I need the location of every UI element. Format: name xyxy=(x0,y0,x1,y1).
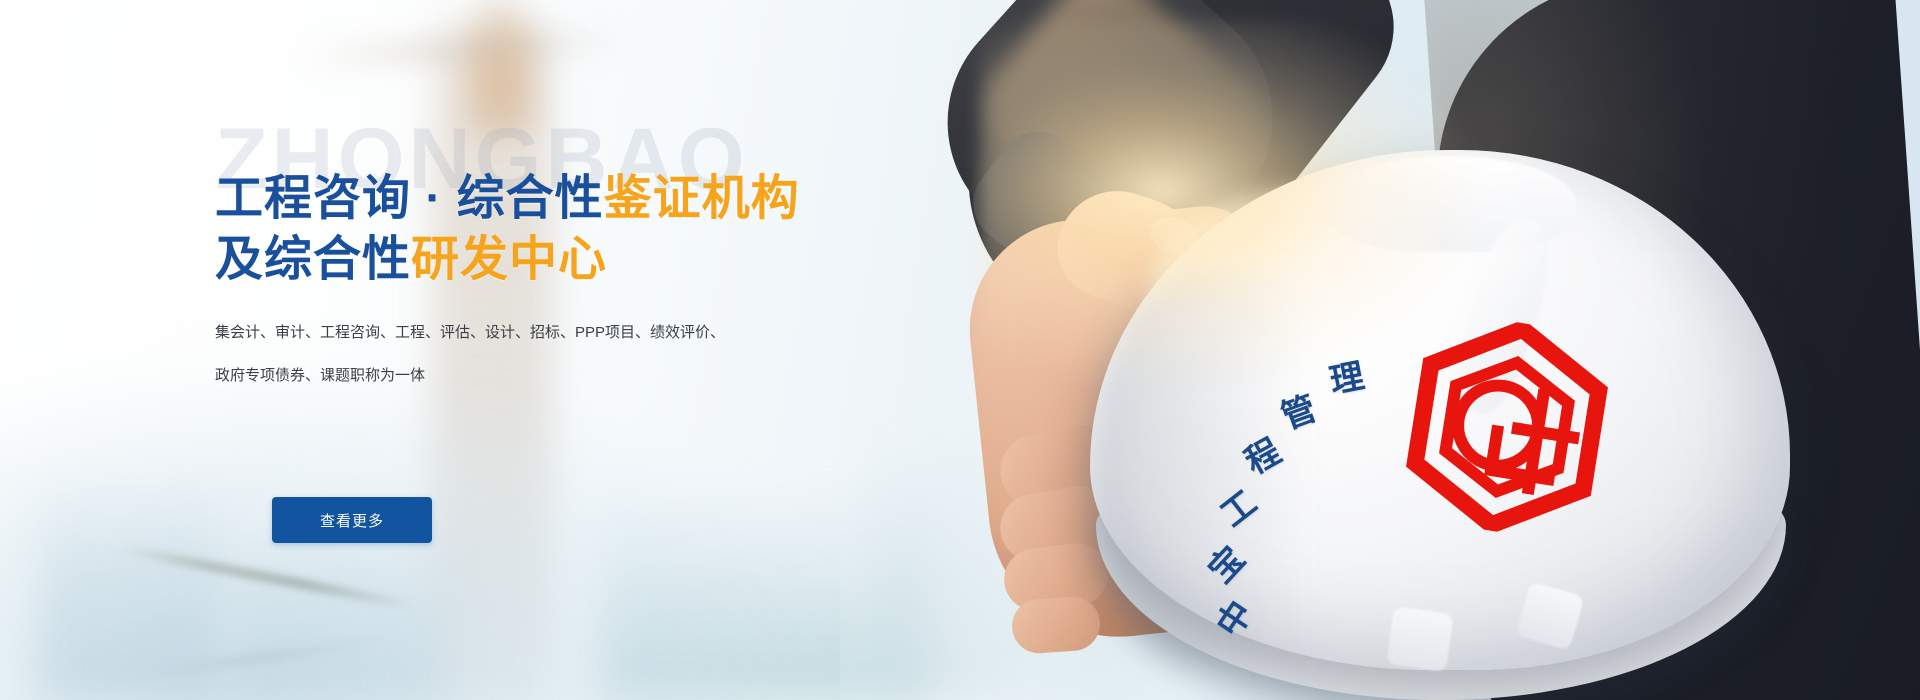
headline-line-1-primary: 工程咨询 · 综合性 xyxy=(215,172,604,225)
view-more-button[interactable]: 查看更多 xyxy=(272,497,432,543)
hard-hat-char-0: 中 xyxy=(1211,595,1258,642)
hero-banner: 中 宝 工 程 管 理 xyxy=(0,0,1920,700)
hard-hat-char-3: 程 xyxy=(1240,434,1286,480)
headline-line-2: 及综合性研发中心 xyxy=(215,229,800,290)
hero-content: ZHONGBAO 工程咨询 · 综合性鉴证机构 及综合性研发中心 集会计、审计、… xyxy=(215,0,935,700)
headline: 工程咨询 · 综合性鉴证机构 及综合性研发中心 xyxy=(215,168,800,291)
description: 集会计、审计、工程咨询、工程、评估、设计、招标、PPP项目、绩效评价、 政府专项… xyxy=(215,312,815,398)
description-line-2: 政府专项债券、课题职称为一体 xyxy=(215,355,815,398)
hard-hat: 中 宝 工 程 管 理 xyxy=(1090,150,1830,700)
headline-line-2-primary: 及综合性 xyxy=(215,233,411,286)
headline-line-2-accent: 研发中心 xyxy=(411,233,607,286)
zhongbao-hexagon-logo xyxy=(1397,308,1618,545)
hard-hat-char-2: 工 xyxy=(1215,485,1263,533)
hard-hat-char-1: 宝 xyxy=(1203,541,1251,589)
headline-line-1-accent: 鉴证机构 xyxy=(604,172,800,225)
finger-little xyxy=(1010,595,1102,655)
hard-hat-char-4: 管 xyxy=(1277,391,1321,435)
hard-hat-char-5: 理 xyxy=(1327,359,1367,399)
headline-line-1: 工程咨询 · 综合性鉴证机构 xyxy=(215,168,800,229)
description-line-1: 集会计、审计、工程咨询、工程、评估、设计、招标、PPP项目、绩效评价、 xyxy=(215,312,815,355)
